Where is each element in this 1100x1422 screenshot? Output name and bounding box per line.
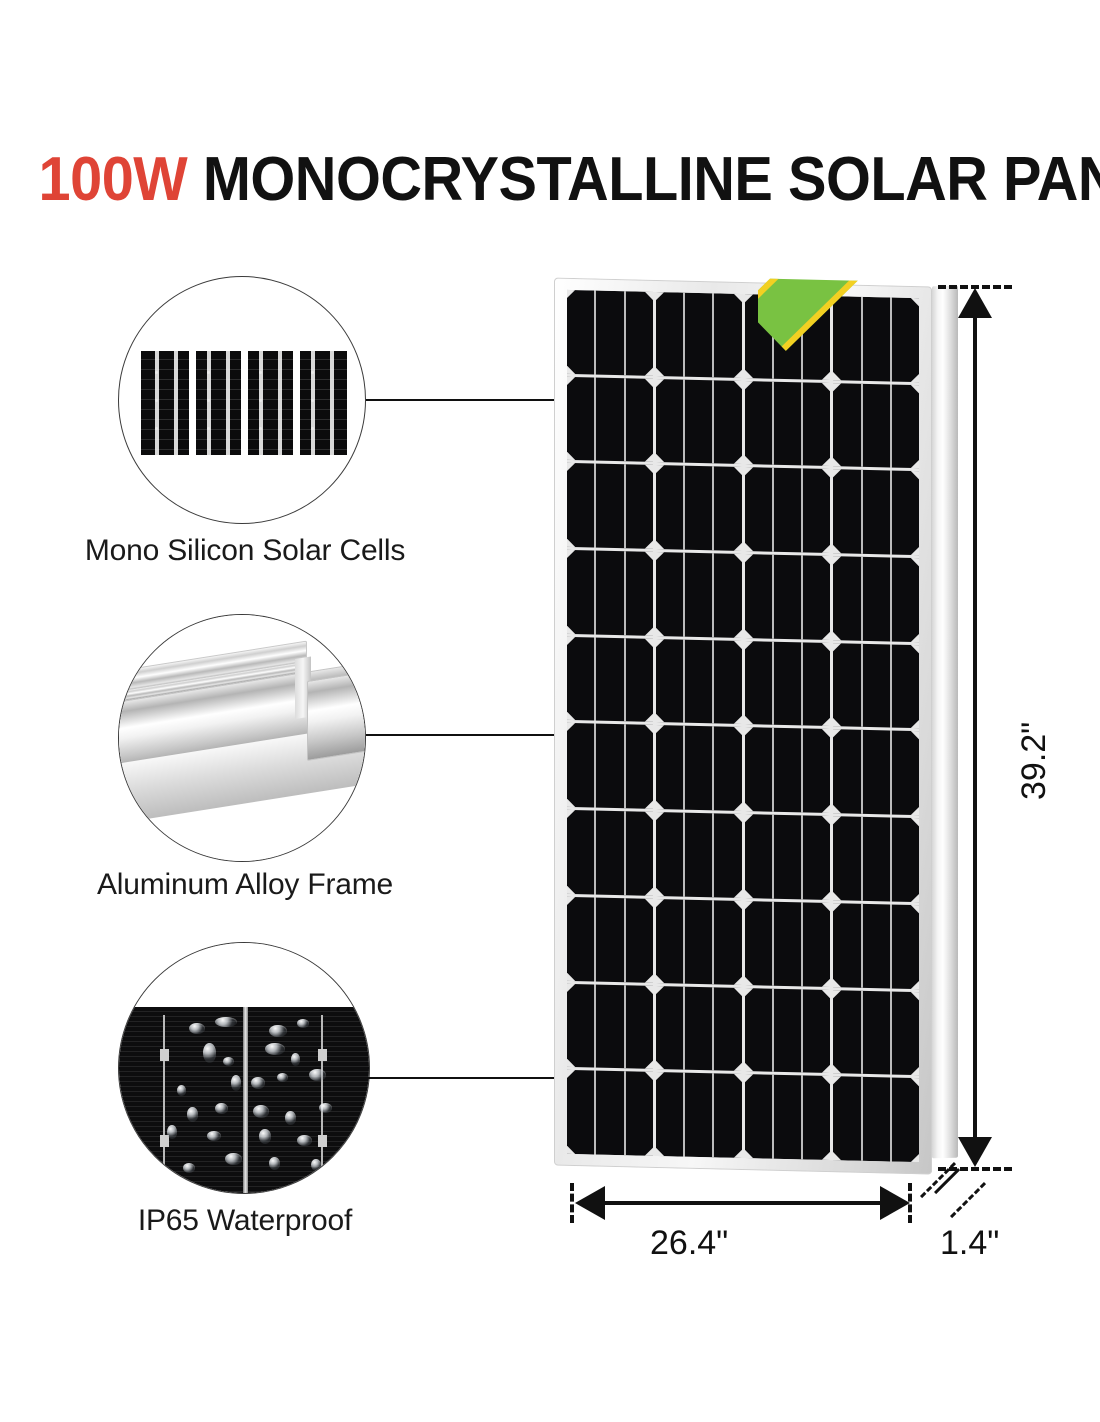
solar-cell (745, 467, 831, 553)
solar-cell (745, 641, 831, 727)
solar-cell-closeup-icon (141, 351, 347, 455)
panel-front-face: 100W (554, 278, 932, 1175)
ip65-circle (118, 942, 370, 1194)
solar-cell (745, 294, 831, 380)
solar-cell (656, 812, 742, 898)
solar-panel-product-image: 100W (548, 272, 958, 1182)
solar-cell (745, 728, 831, 814)
solar-cell (656, 292, 742, 378)
solar-cell (656, 899, 742, 985)
solar-cell (567, 1070, 653, 1156)
solar-cell (833, 816, 919, 902)
thickness-ext-line-b (950, 1182, 986, 1218)
solar-cell (656, 986, 742, 1072)
aluminum-extrusion-icon (119, 615, 365, 861)
width-arrow-right (880, 1186, 910, 1220)
solar-cell (833, 730, 919, 816)
solar-cell (567, 290, 653, 376)
thickness-value: 1.4" (940, 1224, 999, 1263)
infographic-canvas: 100W MONOCRYSTALLINE SOLAR PANEL (0, 0, 1100, 1422)
solar-cell (745, 554, 831, 640)
title-text: MONOCRYSTALLINE SOLAR PANEL (203, 145, 1100, 214)
solar-cell (833, 470, 919, 556)
solar-cell (656, 379, 742, 465)
solar-cell (656, 552, 742, 638)
solar-cell (745, 381, 831, 467)
solar-cell (567, 723, 653, 809)
solar-cell (656, 725, 742, 811)
solar-cell (567, 550, 653, 636)
ip65-label: IP65 Waterproof (20, 1204, 470, 1238)
solar-cell (656, 639, 742, 725)
width-arrow-left (575, 1186, 605, 1220)
solar-cell (567, 810, 653, 896)
solar-cell (833, 990, 919, 1076)
aluminum-frame-circle (118, 614, 366, 862)
height-arrow-bottom (958, 1137, 992, 1167)
solar-cell (833, 643, 919, 729)
panel-laminate (567, 290, 919, 1162)
panel-side-edge (932, 286, 958, 1159)
solar-cell (567, 637, 653, 723)
solar-cell (567, 377, 653, 463)
width-dim-line (588, 1201, 892, 1205)
solar-cell (833, 903, 919, 989)
aluminum-frame-label: Aluminum Alloy Frame (20, 868, 470, 902)
solar-cell (745, 988, 831, 1074)
solar-cell (567, 463, 653, 549)
solar-cell (745, 1074, 831, 1160)
solar-cell (567, 983, 653, 1069)
solar-cell (656, 1072, 742, 1158)
solar-cell (833, 556, 919, 642)
height-dim-line (973, 300, 977, 1155)
solar-cell (833, 1076, 919, 1162)
width-value: 26.4" (650, 1224, 728, 1263)
solar-cell (833, 296, 919, 382)
width-ext-line-left (570, 1183, 574, 1223)
water-droplets-icon (119, 943, 369, 1193)
height-value: 39.2" (1015, 722, 1054, 800)
solar-cell (745, 814, 831, 900)
mono-cells-label: Mono Silicon Solar Cells (20, 534, 470, 568)
page-title: 100W MONOCRYSTALLINE SOLAR PANEL (39, 146, 1062, 214)
solar-cell (567, 897, 653, 983)
wattage-banner-text: 100W (813, 278, 907, 281)
solar-cell (745, 901, 831, 987)
aluminum-frame-leader-line (366, 734, 566, 736)
height-arrow-top (958, 288, 992, 318)
solar-cell (656, 465, 742, 551)
title-wattage: 100W (39, 145, 188, 214)
panel-cell-grid (567, 290, 919, 1162)
mono-cells-circle (118, 276, 366, 524)
solar-cell (833, 383, 919, 469)
